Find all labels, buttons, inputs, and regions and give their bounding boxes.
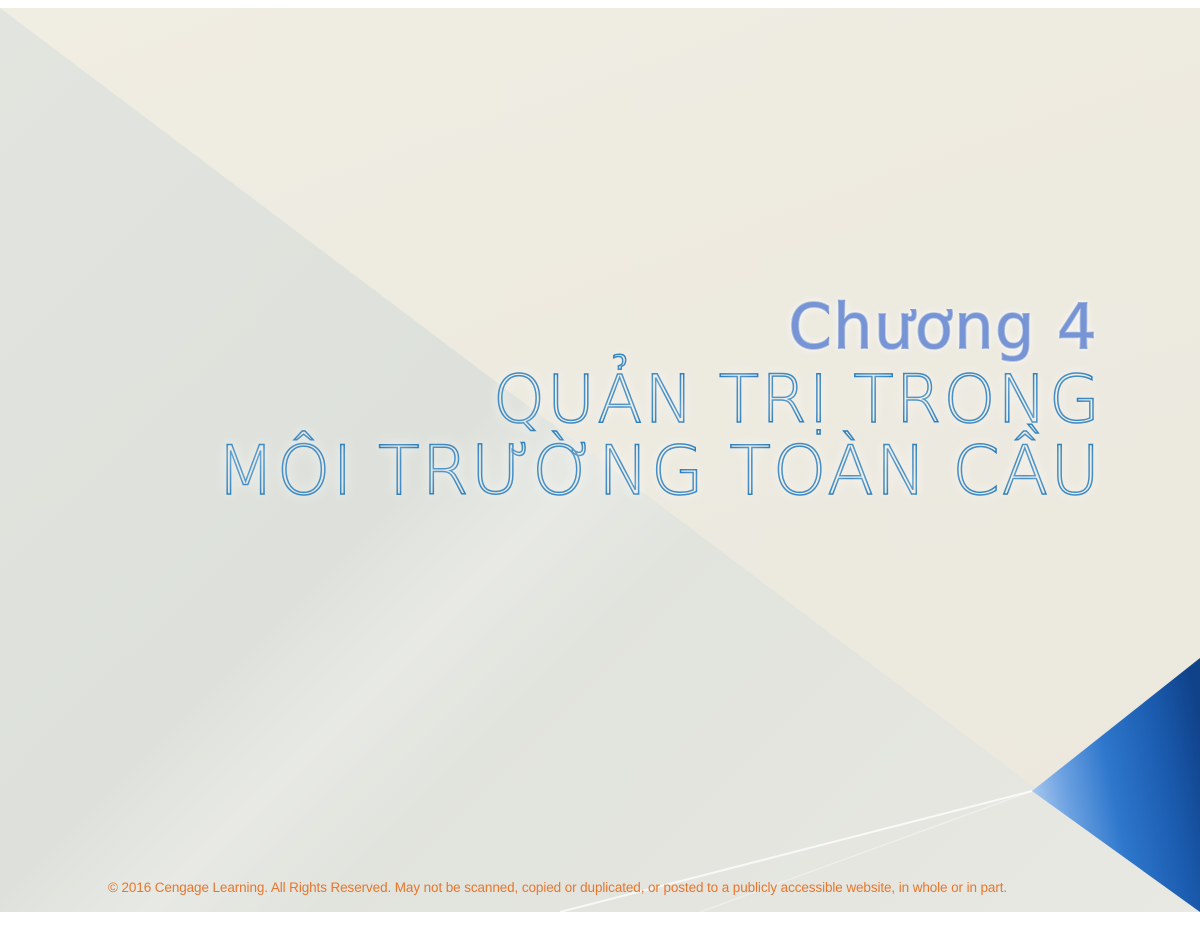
blue-corner-triangle: [1030, 658, 1200, 912]
slide-canvas: Chương 4 QUẢN TRỊ TRONG MÔI TRƯỜNG TOÀN …: [0, 8, 1200, 912]
copyright-footer: © 2016 Cengage Learning. All Rights Rese…: [108, 880, 1138, 895]
title-block: Chương 4 QUẢN TRỊ TRONG MÔI TRƯỜNG TOÀN …: [100, 296, 1102, 509]
subtitle-line-1: QUẢN TRỊ TRONG: [100, 364, 1102, 435]
subtitle-line-2: MÔI TRƯỜNG TOÀN CẦU: [100, 435, 1102, 508]
chapter-title: Chương 4: [100, 296, 1102, 358]
